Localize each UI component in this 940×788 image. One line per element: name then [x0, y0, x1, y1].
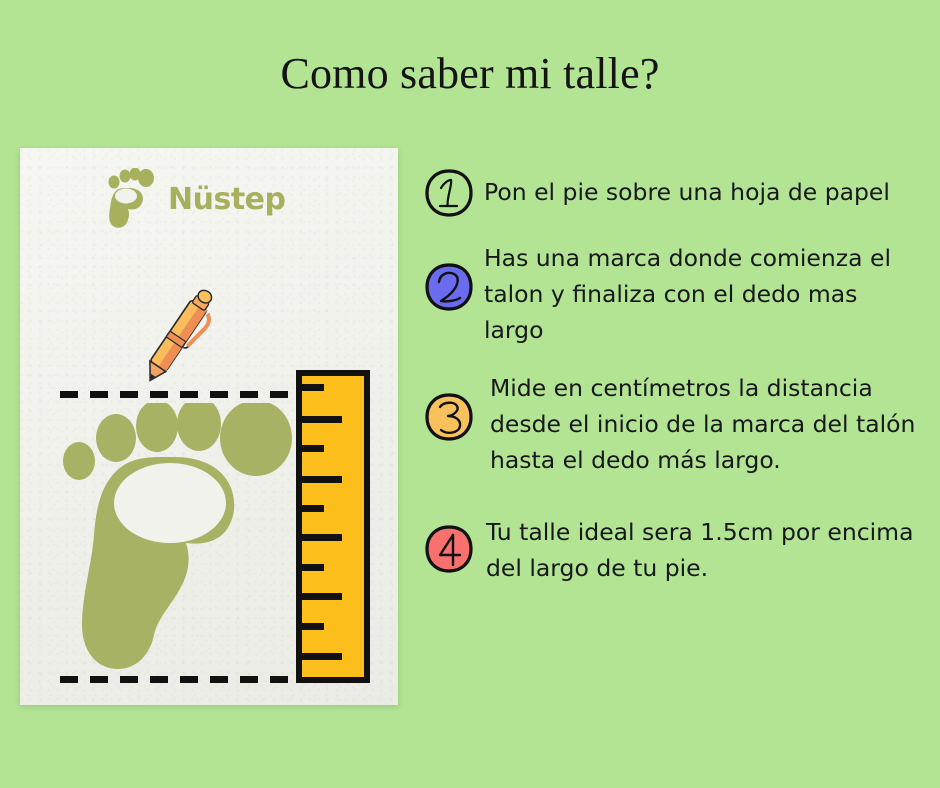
step-item-1: Pon el pie sobre una hoja de papel: [424, 168, 924, 218]
step-circle-2: [424, 262, 474, 312]
step-text-2: Has una marca donde comienza el talon y …: [484, 238, 924, 348]
ruler-tick: [302, 653, 342, 660]
page-title: Como saber mi talle?: [0, 48, 940, 99]
step-text-3: Mide en centímetros la distancia desde e…: [484, 368, 924, 478]
brand-logo: Nüstep: [100, 168, 320, 230]
pen-icon: [128, 282, 226, 392]
steps-list: Pon el pie sobre una hoja de papel Has u…: [424, 168, 924, 606]
ruler-tick: [302, 384, 324, 391]
ruler-tick: [302, 534, 342, 541]
footprint-illustration: [62, 403, 302, 675]
ruler-tick: [302, 445, 324, 452]
footprint-icon: [100, 168, 162, 230]
brand-name: Nüstep: [168, 182, 285, 217]
ruler-illustration: [296, 370, 370, 683]
toe-marker-dashed-line: [60, 391, 317, 398]
step-circle-4: [424, 524, 474, 574]
ruler-tick: [302, 623, 324, 630]
step-item-3: Mide en centímetros la distancia desde e…: [424, 368, 924, 478]
ruler-tick: [302, 593, 342, 600]
ruler-tick: [302, 416, 342, 423]
heel-marker-dashed-line: [60, 676, 317, 683]
step-circle-1: [424, 168, 474, 218]
ruler-tick: [302, 476, 342, 483]
step-item-4: Tu talle ideal sera 1.5cm por encima del…: [424, 512, 924, 586]
step-text-4: Tu talle ideal sera 1.5cm por encima del…: [484, 512, 924, 586]
step-item-2: Has una marca donde comienza el talon y …: [424, 238, 924, 348]
size-guide-poster: Como saber mi talle?: [0, 0, 940, 788]
step-text-1: Pon el pie sobre una hoja de papel: [484, 168, 890, 210]
ruler-tick: [302, 505, 324, 512]
step-circle-3: [424, 392, 474, 442]
ruler-tick: [302, 564, 324, 571]
